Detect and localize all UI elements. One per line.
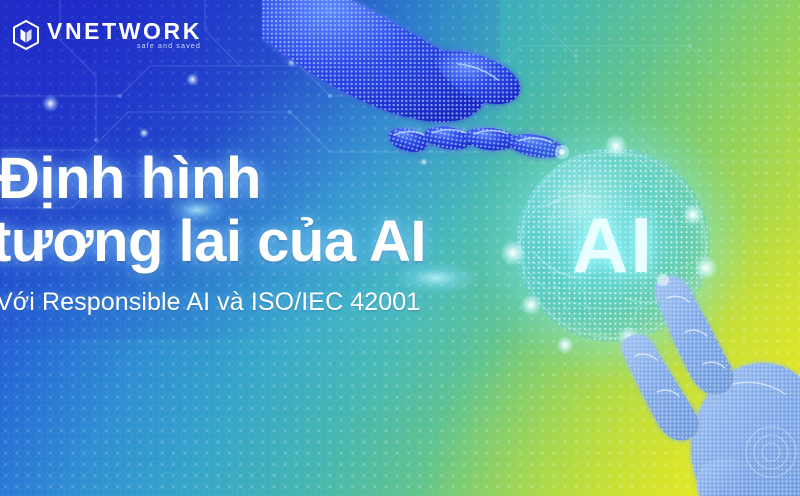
ai-sphere-label: AI: [516, 148, 710, 342]
ai-sphere: AI: [516, 148, 710, 342]
vnetwork-logo[interactable]: VNETWORK safe and saved: [12, 20, 202, 50]
sphere-spark: [604, 134, 628, 158]
ai-sphere-body: AI: [516, 148, 710, 342]
sphere-spark: [618, 326, 640, 348]
sphere-spark: [520, 294, 542, 316]
headline-line-1: Định hình: [0, 150, 520, 207]
subheadline: Với Responsible AI và ISO/IEC 42001: [0, 288, 520, 317]
ai-marketing-banner: AI: [0, 0, 800, 496]
headline-line-2: tương lai của AI: [0, 213, 520, 270]
sphere-spark: [556, 336, 574, 354]
sphere-spark: [682, 204, 704, 226]
sphere-spark: [694, 256, 718, 280]
logo-tagline: safe and saved: [137, 41, 201, 50]
headline-block: Định hình tương lai của AI Với Responsib…: [0, 150, 520, 317]
vnetwork-hexagon-logo-icon: [12, 20, 40, 50]
